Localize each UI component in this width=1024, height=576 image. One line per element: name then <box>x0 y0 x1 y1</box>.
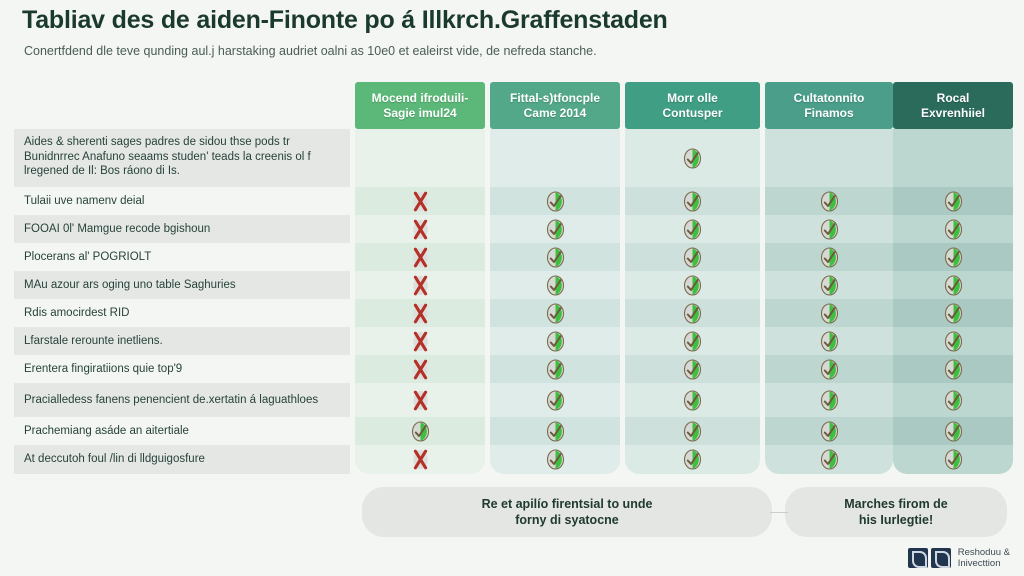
pill-connector <box>770 512 788 513</box>
cell-r4-c4[interactable] <box>765 243 893 271</box>
green-check-icon <box>944 449 963 470</box>
row-label-1[interactable]: Aides & sherenti sages padres de sidou t… <box>14 129 350 187</box>
infographic-table-page: Tabliav des de aiden-Finonte po á Illkrc… <box>0 0 1024 576</box>
column-body-2 <box>490 129 620 474</box>
summary-pill-2[interactable]: Marches firom dehis Iurlegtie! <box>785 487 1007 537</box>
green-check-icon <box>820 303 839 324</box>
green-check-icon <box>820 331 839 352</box>
row-label-text: At deccutoh foul /lin di lldguigosfure <box>24 452 205 467</box>
green-check-icon <box>820 359 839 380</box>
green-check-icon <box>944 331 963 352</box>
green-check-icon <box>944 421 963 442</box>
column-body-1 <box>355 129 485 474</box>
green-check-icon <box>820 275 839 296</box>
row-label-text: Plocerans al' POGRIOLT <box>24 250 151 265</box>
cell-r2-c4[interactable] <box>765 187 893 215</box>
column-header-5[interactable]: RocalExvrenhiiel <box>893 82 1013 129</box>
green-check-icon <box>944 219 963 240</box>
green-check-icon <box>944 303 963 324</box>
cell-r3-c3[interactable] <box>625 215 760 243</box>
cell-r3-c4[interactable] <box>765 215 893 243</box>
green-check-icon <box>683 390 702 411</box>
cell-r10-c1[interactable] <box>355 417 485 445</box>
summary-pill-1[interactable]: Re et apilío firentsial to undeforny di … <box>362 487 772 537</box>
cell-r6-c3[interactable] <box>625 299 760 327</box>
logo-square-right <box>931 548 951 568</box>
column-header-line-1: Cultatonnito <box>794 91 865 105</box>
summary-line-1: Re et apilío firentsial to unde <box>482 497 653 511</box>
green-check-icon <box>683 191 702 212</box>
row-label-text: Erentera fingiratiions quie top'9 <box>24 362 182 377</box>
row-label-11[interactable]: At deccutoh foul /lin di lldguigosfure <box>14 445 350 474</box>
cell-r8-c3[interactable] <box>625 355 760 383</box>
column-body-4 <box>765 129 893 474</box>
green-check-icon <box>546 247 565 268</box>
green-check-icon <box>683 247 702 268</box>
column-header-line-2: Came 2014 <box>524 106 587 120</box>
summary-line-2: his Iurlegtie! <box>859 513 933 527</box>
column-header-4[interactable]: CultatonnitoFinamos <box>765 82 893 129</box>
column-header-line-2: Sagie imul24 <box>383 106 456 120</box>
footer-branding: Reshoduu & Inivecttion <box>908 547 1010 570</box>
green-check-icon <box>820 449 839 470</box>
row-label-text: Pracialledess fanens penencient de.xerta… <box>24 393 318 408</box>
row-label-text: Tulaii uve namenv deial <box>24 194 144 209</box>
cell-r5-c4[interactable] <box>765 271 893 299</box>
cell-r3-c5[interactable] <box>893 215 1013 243</box>
row-label-text: Aides & sherenti sages padres de sidou t… <box>24 136 311 177</box>
row-label-9[interactable]: Pracialledess fanens penencient de.xerta… <box>14 383 350 417</box>
cell-r4-c1[interactable] <box>355 243 485 271</box>
cell-r2-c5[interactable] <box>893 187 1013 215</box>
column-header-line-2: Exvrenhiiel <box>921 106 985 120</box>
cell-r9-c4[interactable] <box>765 383 893 417</box>
cell-r6-c4[interactable] <box>765 299 893 327</box>
cell-r6-c2[interactable] <box>490 299 620 327</box>
cell-r11-c3[interactable] <box>625 445 760 474</box>
green-check-icon <box>411 421 430 442</box>
cell-r1-c3[interactable] <box>625 129 760 187</box>
cell-r11-c4[interactable] <box>765 445 893 474</box>
cell-r4-c5[interactable] <box>893 243 1013 271</box>
column-header-line-2: Finamos <box>804 106 853 120</box>
green-check-icon <box>944 191 963 212</box>
cell-r9-c5[interactable] <box>893 383 1013 417</box>
red-cross-icon <box>411 219 430 240</box>
cell-r2-c2[interactable] <box>490 187 620 215</box>
cell-r8-c4[interactable] <box>765 355 893 383</box>
green-check-icon <box>820 390 839 411</box>
cell-r7-c3[interactable] <box>625 327 760 355</box>
row-label-7[interactable]: Lfarstale rerounte inetliens. <box>14 327 350 355</box>
row-label-3[interactable]: FOOAI 0l' Mamgue recode bgishoun <box>14 215 350 243</box>
green-check-icon <box>546 421 565 442</box>
summary-line-1: Marches firom de <box>844 497 948 511</box>
green-check-icon <box>683 148 702 169</box>
cell-r9-c3[interactable] <box>625 383 760 417</box>
green-check-icon <box>683 449 702 470</box>
row-label-5[interactable]: MAu azour ars oging uno table Saghuries <box>14 271 350 299</box>
column-body-3 <box>625 129 760 474</box>
column-header-1[interactable]: Mocend ifroduili-Sagie imul24 <box>355 82 485 129</box>
cell-r5-c5[interactable] <box>893 271 1013 299</box>
red-cross-icon <box>411 331 430 352</box>
cell-r9-c2[interactable] <box>490 383 620 417</box>
footer-text: Reshoduu & Inivecttion <box>958 547 1010 570</box>
cell-r2-c1[interactable] <box>355 187 485 215</box>
green-check-icon <box>546 331 565 352</box>
green-check-icon <box>546 219 565 240</box>
green-check-icon <box>683 219 702 240</box>
comparison-table: Mocend ifroduili-Sagie imul24 <box>0 82 1024 482</box>
green-check-icon <box>683 303 702 324</box>
cell-r7-c4[interactable] <box>765 327 893 355</box>
green-check-icon <box>820 219 839 240</box>
cell-r5-c3[interactable] <box>625 271 760 299</box>
row-label-text: Lfarstale rerounte inetliens. <box>24 334 163 349</box>
green-check-icon <box>546 449 565 470</box>
column-header-line-2: Contusper <box>663 106 723 120</box>
green-check-icon <box>683 331 702 352</box>
column-header-3[interactable]: Morr olleContusper <box>625 82 760 129</box>
column-header-line-1: Morr olle <box>667 91 718 105</box>
row-label-text: Prachemiang asáde an aitertiale <box>24 424 189 439</box>
green-check-icon <box>944 359 963 380</box>
green-check-icon <box>683 275 702 296</box>
green-check-icon <box>546 390 565 411</box>
cell-r10-c4[interactable] <box>765 417 893 445</box>
green-check-icon <box>546 303 565 324</box>
cell-r3-c2[interactable] <box>490 215 620 243</box>
cell-r8-c5[interactable] <box>893 355 1013 383</box>
cell-r10-c3[interactable] <box>625 417 760 445</box>
cell-r11-c5[interactable] <box>893 445 1013 474</box>
cell-r9-c1[interactable] <box>355 383 485 417</box>
page-subtitle: Conertfdend dle teve qunding aul.j harst… <box>24 44 1004 58</box>
green-check-icon <box>546 275 565 296</box>
green-check-icon <box>944 390 963 411</box>
cell-r5-c2[interactable] <box>490 271 620 299</box>
row-label-text: MAu azour ars oging uno table Saghuries <box>24 278 236 293</box>
row-label-6[interactable]: Rdis amocirdest RID <box>14 299 350 327</box>
cell-r11-c2[interactable] <box>490 445 620 474</box>
footer-line-2: Inivecttion <box>958 558 1010 570</box>
cell-r10-c5[interactable] <box>893 417 1013 445</box>
cell-r7-c2[interactable] <box>490 327 620 355</box>
red-cross-icon <box>411 275 430 296</box>
row-label-2[interactable]: Tulaii uve namenv deial <box>14 187 350 215</box>
cell-r7-c5[interactable] <box>893 327 1013 355</box>
cell-r8-c1[interactable] <box>355 355 485 383</box>
cell-r4-c3[interactable] <box>625 243 760 271</box>
red-cross-icon <box>411 449 430 470</box>
red-cross-icon <box>411 191 430 212</box>
cell-r10-c2[interactable] <box>490 417 620 445</box>
column-header-line-1: Mocend ifroduili- <box>372 91 469 105</box>
green-check-icon <box>820 191 839 212</box>
cell-r3-c1[interactable] <box>355 215 485 243</box>
row-label-text: FOOAI 0l' Mamgue recode bgishoun <box>24 222 210 237</box>
logo-square-left <box>908 548 928 568</box>
cell-r4-c2[interactable] <box>490 243 620 271</box>
cell-r2-c3[interactable] <box>625 187 760 215</box>
row-label-column: Aides & sherenti sages padres de sidou t… <box>14 129 350 474</box>
column-header-line-1: Fittal-s)tfoncple <box>510 91 600 105</box>
cell-r11-c1[interactable] <box>355 445 485 474</box>
row-label-10[interactable]: Prachemiang asáde an aitertiale <box>14 417 350 445</box>
green-check-icon <box>944 275 963 296</box>
red-cross-icon <box>411 303 430 324</box>
column-header-line-1: Rocal <box>937 91 970 105</box>
row-label-text: Rdis amocirdest RID <box>24 306 129 321</box>
green-check-icon <box>546 359 565 380</box>
red-cross-icon <box>411 247 430 268</box>
page-title: Tabliav des de aiden-Finonte po á Illkrc… <box>22 6 1002 35</box>
green-check-icon <box>820 247 839 268</box>
summary-line-2: forny di syatocne <box>515 513 619 527</box>
column-header-2[interactable]: Fittal-s)tfoncpleCame 2014 <box>490 82 620 129</box>
cell-r7-c1[interactable] <box>355 327 485 355</box>
cell-r8-c2[interactable] <box>490 355 620 383</box>
green-check-icon <box>683 421 702 442</box>
cell-r6-c1[interactable] <box>355 299 485 327</box>
logo-icon <box>908 548 951 568</box>
cell-r6-c5[interactable] <box>893 299 1013 327</box>
cell-r5-c1[interactable] <box>355 271 485 299</box>
red-cross-icon <box>411 359 430 380</box>
row-label-8[interactable]: Erentera fingiratiions quie top'9 <box>14 355 350 383</box>
green-check-icon <box>944 247 963 268</box>
green-check-icon <box>546 191 565 212</box>
green-check-icon <box>683 359 702 380</box>
footer-line-1: Reshoduu & <box>958 547 1010 559</box>
red-cross-icon <box>411 390 430 411</box>
column-body-5 <box>893 129 1013 474</box>
row-label-4[interactable]: Plocerans al' POGRIOLT <box>14 243 350 271</box>
green-check-icon <box>820 421 839 442</box>
